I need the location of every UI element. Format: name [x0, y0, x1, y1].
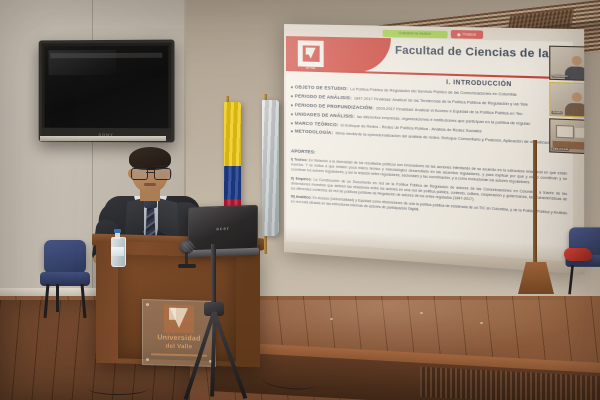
participant-figure: [565, 92, 584, 116]
recording-indicator: Grabando la reunion: [383, 29, 448, 37]
tv-screen: [45, 46, 169, 129]
phone-hangup-icon: [458, 33, 461, 36]
participant-head: [571, 56, 581, 66]
participant-name-label: Jurado: [551, 111, 562, 115]
projection-screen: Grabando la reunion Finalizar Universida…: [284, 24, 584, 275]
participant-tile-2[interactable]: Jurado: [549, 82, 584, 118]
presentation-slide: Universidad del Valle Facultad de Cienci…: [286, 36, 573, 262]
slide-aportes-section: APORTES: I) Teórico: En Relación a la di…: [291, 149, 567, 226]
glasses-icon: [131, 168, 169, 178]
logo-bar: [169, 308, 176, 320]
auditorium-presentation-photo: SONY Grabando la reunion Finalizar Unive: [0, 0, 600, 400]
plaque-screw: [146, 303, 149, 306]
projection-surface: Grabando la reunion Finalizar Universida…: [284, 24, 584, 275]
glasses-lens-right: [154, 168, 171, 180]
end-call-button[interactable]: Finalizar: [451, 30, 483, 39]
university-logo-icon: [298, 40, 324, 67]
presenter-mouth: [144, 183, 156, 186]
red-cloth-item[interactable]: [564, 248, 592, 261]
bullet-icon: [291, 113, 293, 115]
participant-tile-3[interactable]: Sala remota: [549, 118, 584, 155]
bottle-neck: [115, 232, 120, 239]
remote-room-screen: [556, 125, 574, 139]
tv-screen-gloss: [49, 50, 117, 75]
slide-bullet-list: OBJETO DE ESTUDIO: La Política Pública d…: [291, 84, 567, 150]
remote-room-object: [575, 128, 584, 138]
participant-head: [571, 92, 581, 102]
glasses-lens-left: [131, 168, 148, 180]
slide-header: Universidad del Valle Facultad de Cienci…: [286, 36, 573, 80]
end-call-label: Finalizar: [462, 32, 476, 36]
chair-left[interactable]: [38, 240, 92, 316]
tripod-leg: [212, 311, 247, 399]
participant-body: [565, 103, 584, 117]
bullet-icon: [291, 86, 293, 88]
tv-shelf: [40, 136, 166, 141]
chair-leg: [44, 284, 50, 318]
presenter-tie-knot: [144, 200, 157, 208]
bullet-icon: [291, 104, 293, 106]
wall-tv[interactable]: SONY: [39, 40, 175, 143]
floor-speck: [330, 318, 333, 320]
floor-speck: [420, 312, 423, 314]
laptop-brand-logo: acer: [216, 226, 229, 231]
bullet-icon: [291, 131, 293, 133]
presenter-brow: [132, 165, 146, 167]
plaque-screw: [146, 358, 149, 361]
logo-bar: [305, 47, 309, 54]
bullet-icon: [291, 122, 293, 124]
flag-fold-shading: [262, 100, 279, 236]
recording-label: Grabando la reunion: [399, 31, 431, 36]
water-bottle[interactable]: [111, 229, 124, 265]
floor-cable: [88, 382, 148, 395]
camera-tripod[interactable]: [178, 244, 250, 400]
bottle-cap: [114, 229, 121, 233]
chair-backrest: [44, 240, 86, 274]
video-participant-panel: Presentador Jurado Sala: [549, 46, 584, 157]
institutional-flag: [262, 100, 279, 236]
tripod-column: [211, 244, 216, 310]
chair-leg: [56, 284, 59, 312]
presenter-brow: [154, 165, 168, 167]
bottle-label: [111, 247, 124, 256]
right-flag-pole: [533, 140, 537, 270]
paragraph-label: I) Teórico:: [291, 157, 308, 162]
participant-name-label: Presentador: [551, 75, 569, 79]
logo-mark: [302, 45, 319, 62]
floor-speck: [480, 322, 483, 324]
participant-tile-1[interactable]: Presentador: [549, 46, 584, 82]
chair-leg: [81, 284, 87, 318]
bullet-icon: [291, 95, 293, 97]
glasses-bridge: [146, 172, 154, 173]
chair-leg: [568, 265, 574, 294]
